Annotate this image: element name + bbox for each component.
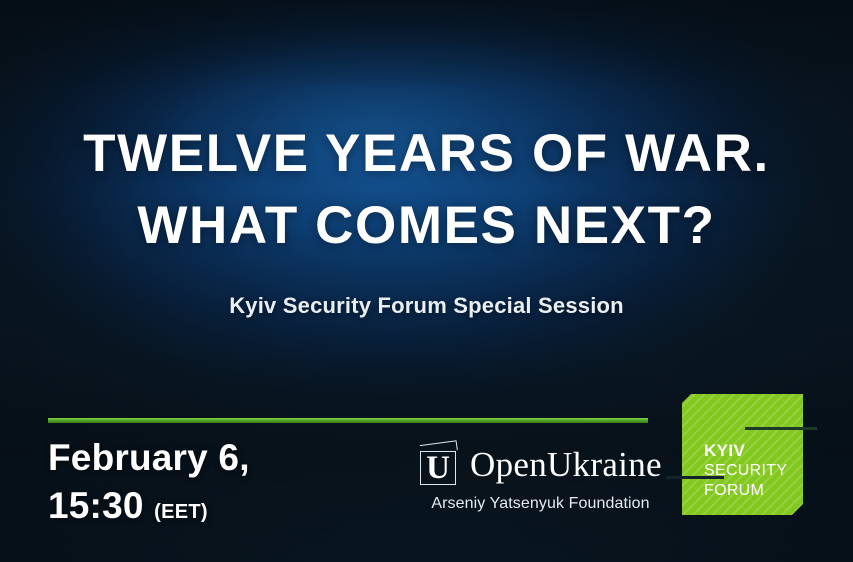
event-poster: TWELVE YEARS OF WAR. WHAT COMES NEXT? Ky…: [0, 0, 853, 562]
title-line-2: WHAT COMES NEXT?: [0, 190, 853, 262]
kyiv-security-forum-logo: KYIV SECURITY FORUM: [682, 394, 803, 515]
event-datetime: February 6, 15:30 (EET): [48, 434, 388, 536]
ksf-line-1: KYIV: [704, 441, 787, 461]
ksf-line-2: SECURITY: [704, 461, 787, 481]
event-timezone: (EET): [154, 501, 208, 523]
title-line-1: TWELVE YEARS OF WAR.: [0, 118, 853, 190]
ksf-line-3: FORUM: [704, 481, 787, 501]
open-ukraine-name: OpenUkraine: [470, 443, 662, 487]
open-ukraine-logo-row: U OpenUkraine: [418, 440, 663, 490]
open-ukraine-book-icon: U: [418, 443, 460, 487]
poster-subtitle: Kyiv Security Forum Special Session: [0, 293, 853, 319]
event-time: 15:30: [48, 485, 144, 526]
open-ukraine-logo: U OpenUkraine Arseniy Yatsenyuk Foundati…: [418, 440, 663, 513]
open-ukraine-tagline: Arseniy Yatsenyuk Foundation: [418, 495, 663, 513]
event-date: February 6,: [48, 434, 388, 482]
open-ukraine-monogram: U: [418, 450, 458, 486]
event-time-row: 15:30 (EET): [48, 482, 388, 536]
green-divider-rule: [48, 418, 648, 423]
poster-title: TWELVE YEARS OF WAR. WHAT COMES NEXT?: [0, 118, 853, 262]
ksf-wordmark: KYIV SECURITY FORUM: [704, 441, 787, 501]
ksf-accent-bar-top: [745, 427, 817, 430]
